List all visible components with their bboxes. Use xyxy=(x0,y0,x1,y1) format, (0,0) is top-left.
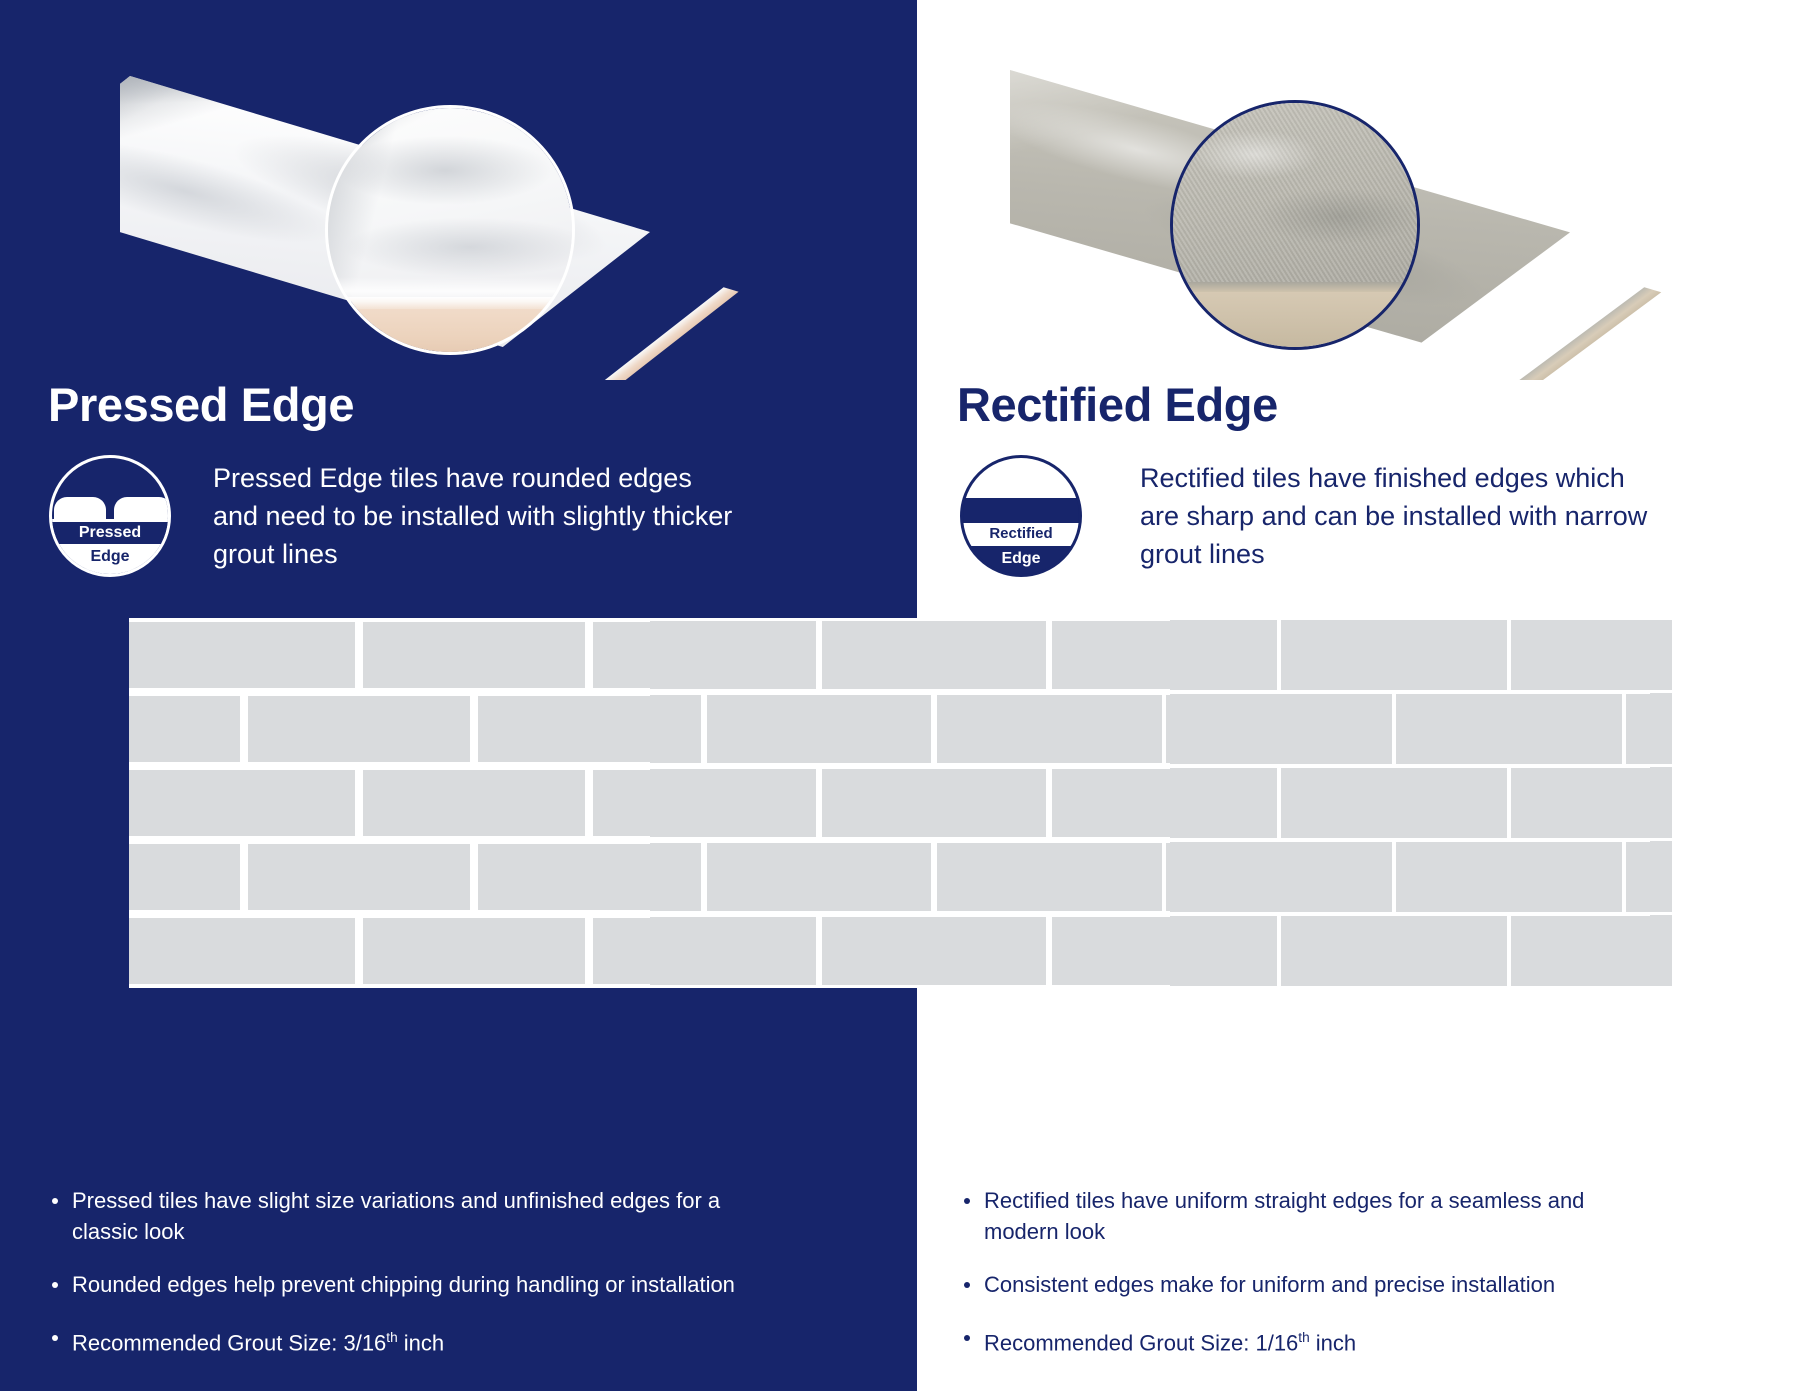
grout-line-horizontal xyxy=(329,836,370,844)
grout-line-horizontal xyxy=(1209,838,1250,843)
grout-line-vertical xyxy=(701,840,708,914)
grout-line-horizontal xyxy=(249,762,290,770)
pressed-badge-graphic: Pressed Edge xyxy=(52,458,168,574)
grout-size-label: Recommended Grout Size: xyxy=(984,1330,1255,1355)
grout-line-horizontal xyxy=(1569,618,1610,620)
grout-line-horizontal xyxy=(969,763,1010,769)
grout-line-horizontal xyxy=(1329,986,1370,988)
magnified-tile-body xyxy=(325,309,575,355)
pressed-edge-heading: Pressed Edge xyxy=(48,377,354,432)
magnified-marble-surface xyxy=(325,105,575,297)
grout-line-horizontal xyxy=(1369,690,1410,694)
grout-line-horizontal xyxy=(1249,618,1290,620)
grout-line-horizontal xyxy=(489,688,530,696)
grout-line-horizontal xyxy=(1569,838,1610,841)
grout-line-horizontal xyxy=(369,688,410,696)
list-item: Rounded edges help prevent chipping duri… xyxy=(46,1269,746,1300)
grout-line-horizontal xyxy=(1129,618,1170,621)
grout-line-horizontal xyxy=(849,763,890,769)
grout-line-vertical xyxy=(1162,692,1167,766)
grout-line-horizontal xyxy=(969,911,1010,917)
grout-line-horizontal xyxy=(1609,690,1650,693)
grout-line-horizontal xyxy=(1649,618,1672,620)
grout-line-horizontal xyxy=(1329,764,1370,768)
grout-line-horizontal xyxy=(729,763,770,770)
grout-line-horizontal xyxy=(1649,838,1672,841)
grout-line-horizontal xyxy=(649,763,690,770)
grout-line-horizontal xyxy=(1609,764,1650,767)
grout-line-horizontal xyxy=(129,984,170,988)
grout-line-horizontal xyxy=(249,836,290,844)
grout-line-horizontal xyxy=(409,984,450,988)
grout-line-horizontal xyxy=(1369,618,1410,620)
grout-line-horizontal xyxy=(529,910,570,917)
rectified-edge-heading: Rectified Edge xyxy=(957,377,1278,432)
grout-line-horizontal xyxy=(1089,763,1130,768)
grout-line-horizontal xyxy=(689,618,730,621)
grout-line-horizontal xyxy=(289,910,330,918)
grout-size-unit: inch xyxy=(398,1330,444,1355)
grout-line-horizontal xyxy=(1369,838,1410,842)
grout-line-horizontal xyxy=(209,618,250,622)
grout-line-vertical xyxy=(1507,766,1511,840)
grout-line-horizontal xyxy=(1249,690,1290,695)
grout-line-horizontal xyxy=(1169,764,1210,769)
list-item: Rectified tiles have uniform straight ed… xyxy=(958,1185,1588,1247)
pressed-edge-bullet-list: Pressed tiles have slight size variation… xyxy=(46,1185,746,1380)
grout-line-horizontal xyxy=(1449,986,1490,988)
rectified-badge-graphic: Rectified Edge xyxy=(963,458,1079,574)
grout-line-horizontal xyxy=(1169,912,1210,917)
grout-line-horizontal xyxy=(249,910,290,918)
grout-line-horizontal xyxy=(129,836,170,845)
pressed-edge-badge: Pressed Edge xyxy=(49,455,171,577)
grout-line-vertical xyxy=(1507,618,1511,692)
grout-line-horizontal xyxy=(1609,986,1650,988)
grout-line-horizontal xyxy=(409,836,450,844)
grout-line-horizontal xyxy=(1369,912,1410,916)
grout-line-horizontal xyxy=(609,688,650,695)
grout-line-vertical xyxy=(355,618,363,692)
grout-line-horizontal xyxy=(1569,912,1610,915)
grout-line-horizontal xyxy=(209,984,250,988)
grout-line-horizontal xyxy=(1649,764,1672,767)
grout-line-horizontal xyxy=(489,836,530,844)
grout-line-horizontal xyxy=(729,618,770,621)
grout-line-horizontal xyxy=(369,618,410,622)
grout-line-vertical xyxy=(1622,692,1625,766)
grout-line-horizontal xyxy=(1209,690,1250,695)
grout-line-horizontal xyxy=(1249,764,1290,769)
grout-line-horizontal xyxy=(1169,690,1210,695)
grout-line-horizontal xyxy=(1289,912,1330,916)
grout-line-horizontal xyxy=(529,984,570,988)
grout-line-horizontal xyxy=(1289,764,1330,768)
grout-line-vertical xyxy=(1622,840,1625,914)
grout-line-vertical xyxy=(1046,766,1051,840)
grout-line-horizontal xyxy=(889,911,930,917)
grout-line-horizontal xyxy=(329,688,370,696)
grout-line-horizontal xyxy=(689,837,730,844)
grout-line-horizontal xyxy=(1409,764,1450,768)
grout-line-horizontal xyxy=(1009,618,1050,621)
grout-line-horizontal xyxy=(969,985,1010,988)
grout-line-horizontal xyxy=(1609,912,1650,915)
grout-line-horizontal xyxy=(1529,690,1570,693)
grout-line-horizontal xyxy=(1409,618,1450,620)
list-item-grout-size: Recommended Grout Size: 1/16th inch xyxy=(958,1322,1588,1358)
grout-line-horizontal xyxy=(1289,618,1330,620)
grout-line-horizontal xyxy=(889,985,930,988)
grout-line-horizontal xyxy=(289,618,330,622)
grout-line-horizontal xyxy=(169,836,210,845)
grout-line-horizontal xyxy=(329,984,370,988)
grout-line-horizontal xyxy=(1409,912,1450,916)
grout-line-horizontal xyxy=(529,618,570,622)
grout-line-horizontal xyxy=(249,984,290,988)
grout-line-horizontal xyxy=(649,689,690,696)
grout-line-horizontal xyxy=(129,618,170,622)
grout-line-horizontal xyxy=(729,985,770,988)
grout-size-unit: inch xyxy=(1310,1330,1356,1355)
magnifier-content-pressed xyxy=(325,105,575,355)
grout-size-label: Recommended Grout Size: xyxy=(72,1330,343,1355)
grout-line-vertical xyxy=(816,914,822,988)
grout-line-horizontal xyxy=(929,618,970,621)
grout-line-horizontal xyxy=(1089,985,1130,988)
grout-line-horizontal xyxy=(529,688,570,695)
grout-line-horizontal xyxy=(489,984,530,988)
grout-line-horizontal xyxy=(1049,689,1090,694)
magnified-tile-glaze xyxy=(1170,282,1420,292)
pressed-badge-label-top: Pressed xyxy=(52,524,168,542)
grout-line-horizontal xyxy=(129,762,170,771)
grout-line-horizontal xyxy=(1169,986,1210,988)
grout-line-horizontal xyxy=(849,911,890,917)
grout-line-horizontal xyxy=(609,984,650,988)
grout-line-horizontal xyxy=(489,762,530,770)
rectified-edge-bullet-list: Rectified tiles have uniform straight ed… xyxy=(958,1185,1588,1380)
grout-line-horizontal xyxy=(1609,618,1650,620)
grout-line-horizontal xyxy=(1009,911,1050,917)
grout-line-horizontal xyxy=(889,763,930,769)
grout-size-value: 1/16 xyxy=(1255,1330,1298,1355)
grout-line-horizontal xyxy=(169,910,210,919)
grout-line-horizontal xyxy=(1529,764,1570,767)
grout-line-vertical xyxy=(470,692,478,766)
list-item-grout-size: Recommended Grout Size: 3/16th inch xyxy=(46,1322,746,1358)
grout-line-horizontal xyxy=(1209,986,1250,988)
grout-line-horizontal xyxy=(969,689,1010,695)
grout-line-horizontal xyxy=(1049,985,1090,988)
grout-line-horizontal xyxy=(729,689,770,696)
grout-line-horizontal xyxy=(1089,911,1130,916)
grout-line-horizontal xyxy=(609,910,650,917)
grout-line-horizontal xyxy=(289,836,330,844)
grout-line-horizontal xyxy=(1009,763,1050,769)
grout-line-horizontal xyxy=(1169,618,1210,620)
grout-line-horizontal xyxy=(1089,689,1130,694)
grout-line-horizontal xyxy=(729,837,770,844)
grout-line-horizontal xyxy=(1009,837,1050,843)
grout-line-vertical xyxy=(240,840,249,914)
grout-line-horizontal xyxy=(409,910,450,918)
magnified-tile-glaze xyxy=(325,297,575,309)
grout-line-horizontal xyxy=(1369,986,1410,988)
grout-line-horizontal xyxy=(289,984,330,988)
grout-line-horizontal xyxy=(649,985,690,988)
rectified-edge-magnifier-circle xyxy=(1170,100,1420,350)
grout-line-horizontal xyxy=(1049,837,1090,842)
grout-line-vertical xyxy=(816,618,822,692)
rectified-tile-left-square xyxy=(963,498,1017,523)
grout-line-vertical xyxy=(931,692,937,766)
grout-line-horizontal xyxy=(1329,618,1370,620)
grout-line-horizontal xyxy=(249,618,290,622)
grout-line-horizontal xyxy=(969,618,1010,621)
grout-line-horizontal xyxy=(169,688,210,697)
grout-line-horizontal xyxy=(689,689,730,696)
grout-line-vertical xyxy=(1277,618,1282,692)
rectified-edge-badge: Rectified Edge xyxy=(960,455,1082,577)
grout-line-vertical xyxy=(585,618,592,692)
pressed-badge-label-bottom: Edge xyxy=(52,548,168,566)
grout-line-horizontal xyxy=(1289,690,1330,694)
grout-line-horizontal xyxy=(849,985,890,988)
grout-line-vertical xyxy=(1046,618,1051,692)
magnified-stone-surface xyxy=(1170,100,1420,282)
subway-tile-grout-comparison xyxy=(129,618,1672,988)
grout-line-horizontal xyxy=(1049,911,1090,916)
grout-line-horizontal xyxy=(1449,838,1490,842)
grout-line-horizontal xyxy=(1609,838,1650,841)
grout-line-horizontal xyxy=(689,763,730,770)
grout-line-horizontal xyxy=(1289,986,1330,988)
marble-slab-side-face xyxy=(576,287,738,380)
grout-line-horizontal xyxy=(1529,618,1570,620)
grout-line-horizontal xyxy=(529,836,570,843)
grout-line-horizontal xyxy=(449,618,490,622)
grout-line-horizontal xyxy=(129,910,170,919)
grout-line-vertical xyxy=(1046,914,1051,988)
grout-line-horizontal xyxy=(769,618,810,621)
grout-line-vertical xyxy=(1277,914,1282,988)
grout-line-horizontal xyxy=(369,762,410,770)
grout-line-horizontal xyxy=(1089,837,1130,842)
grout-line-horizontal xyxy=(489,618,530,622)
grout-line-horizontal xyxy=(1289,838,1330,842)
grout-line-horizontal xyxy=(1329,838,1370,842)
grout-line-horizontal xyxy=(409,762,450,770)
grout-line-horizontal xyxy=(969,837,1010,843)
grout-line-horizontal xyxy=(689,911,730,918)
grout-line-horizontal xyxy=(1249,912,1290,917)
grout-line-vertical xyxy=(931,840,937,914)
grout-line-horizontal xyxy=(1169,838,1210,843)
grout-line-horizontal xyxy=(1369,764,1410,768)
grout-line-vertical xyxy=(355,766,363,840)
grout-line-horizontal xyxy=(1009,985,1050,988)
grout-line-horizontal xyxy=(129,688,170,697)
rectified-tile-right-square xyxy=(1023,498,1082,523)
rectified-badge-top-area xyxy=(963,458,1079,498)
grout-line-horizontal xyxy=(889,618,930,621)
grout-line-horizontal xyxy=(1009,689,1050,695)
grout-line-horizontal xyxy=(1649,986,1672,988)
grout-line-horizontal xyxy=(169,762,210,771)
grout-line-horizontal xyxy=(1409,986,1450,988)
grout-line-horizontal xyxy=(1049,763,1090,768)
grout-line-horizontal xyxy=(649,911,690,918)
grout-line-horizontal xyxy=(409,688,450,696)
grout-line-horizontal xyxy=(1449,764,1490,768)
grout-line-horizontal xyxy=(649,837,690,844)
grout-line-horizontal xyxy=(409,618,450,622)
magnifier-content-rectified xyxy=(1170,100,1420,350)
stone-slab-side-face xyxy=(1496,287,1662,380)
grout-line-vertical xyxy=(470,840,478,914)
rectified-badge-label-top: Rectified xyxy=(963,525,1079,542)
grout-line-horizontal xyxy=(1329,690,1370,694)
grout-line-horizontal xyxy=(689,985,730,988)
grout-line-horizontal xyxy=(1409,838,1450,842)
grout-line-horizontal xyxy=(1529,838,1570,841)
grout-line-vertical xyxy=(585,766,592,840)
grout-line-vertical xyxy=(1507,914,1511,988)
grout-line-horizontal xyxy=(249,688,290,696)
pressed-edge-magnifier-circle xyxy=(325,105,575,355)
grout-line-vertical xyxy=(701,692,708,766)
grout-line-horizontal xyxy=(329,910,370,918)
grout-line-horizontal xyxy=(849,618,890,621)
grout-line-horizontal xyxy=(489,910,530,918)
grout-line-horizontal xyxy=(1409,690,1450,694)
grout-line-horizontal xyxy=(929,985,970,988)
grout-line-horizontal xyxy=(1649,912,1672,915)
grout-line-horizontal xyxy=(1129,985,1170,988)
grout-line-horizontal xyxy=(769,837,810,843)
grout-line-horizontal xyxy=(609,836,650,843)
grout-line-horizontal xyxy=(1569,690,1610,693)
grout-line-horizontal xyxy=(769,985,810,988)
grout-line-horizontal xyxy=(1209,764,1250,769)
list-item: Consistent edges make for uniform and pr… xyxy=(958,1269,1588,1300)
grout-line-horizontal xyxy=(1449,690,1490,694)
grout-line-horizontal xyxy=(289,762,330,770)
grout-size-value: 3/16 xyxy=(343,1330,386,1355)
grout-line-horizontal xyxy=(1529,986,1570,988)
grout-line-horizontal xyxy=(1249,838,1290,843)
grout-line-horizontal xyxy=(889,689,930,695)
rectified-badge-label-bottom: Edge xyxy=(963,550,1079,568)
rectified-edge-description: Rectified tiles have finished edges whic… xyxy=(1140,459,1670,573)
grout-line-vertical xyxy=(1162,840,1167,914)
grout-line-horizontal xyxy=(1449,618,1490,620)
grout-line-vertical xyxy=(585,914,592,988)
grout-line-vertical xyxy=(1392,692,1396,766)
grout-line-vertical xyxy=(816,766,822,840)
grout-line-horizontal xyxy=(1329,912,1370,916)
grout-line-horizontal xyxy=(849,837,890,843)
grout-line-horizontal xyxy=(849,689,890,695)
grout-line-horizontal xyxy=(1649,690,1672,693)
grout-line-horizontal xyxy=(369,984,410,988)
grout-line-horizontal xyxy=(169,984,210,988)
grout-line-horizontal xyxy=(609,762,650,769)
grout-line-horizontal xyxy=(649,618,690,621)
grout-line-horizontal xyxy=(1249,986,1290,988)
grout-line-horizontal xyxy=(769,911,810,917)
grout-line-horizontal xyxy=(889,837,930,843)
grout-line-horizontal xyxy=(369,910,410,918)
pressed-edge-description: Pressed Edge tiles have rounded edges an… xyxy=(213,459,733,573)
grout-line-horizontal xyxy=(1569,764,1610,767)
grout-line-vertical xyxy=(1277,766,1282,840)
grout-line-horizontal xyxy=(1089,618,1130,621)
grout-line-vertical xyxy=(240,692,249,766)
infographic-root: Pressed Edge Rectified Edge Pressed Edge… xyxy=(0,0,1800,1391)
grout-line-horizontal xyxy=(169,618,210,622)
grout-line-horizontal xyxy=(1209,618,1250,620)
grout-line-horizontal xyxy=(329,762,370,770)
grout-line-horizontal xyxy=(369,836,410,844)
grout-line-horizontal xyxy=(769,689,810,695)
grout-line-horizontal xyxy=(1049,618,1090,621)
grout-line-vertical xyxy=(1392,840,1396,914)
grout-size-ordinal: th xyxy=(386,1330,397,1345)
grout-line-horizontal xyxy=(329,618,370,622)
grout-line-horizontal xyxy=(729,911,770,918)
grout-line-horizontal xyxy=(609,618,650,622)
grout-line-horizontal xyxy=(289,688,330,696)
grout-line-horizontal xyxy=(1449,912,1490,916)
list-item: Pressed tiles have slight size variation… xyxy=(46,1185,746,1247)
magnified-tile-body xyxy=(1170,292,1420,350)
grout-line-horizontal xyxy=(1529,912,1570,915)
grout-line-horizontal xyxy=(529,762,570,769)
grout-line-horizontal xyxy=(769,763,810,769)
grout-line-vertical xyxy=(355,914,363,988)
grout-size-ordinal: th xyxy=(1298,1330,1309,1345)
grout-line-horizontal xyxy=(1569,986,1610,988)
grout-line-horizontal xyxy=(449,984,490,988)
grout-line-horizontal xyxy=(1209,912,1250,917)
